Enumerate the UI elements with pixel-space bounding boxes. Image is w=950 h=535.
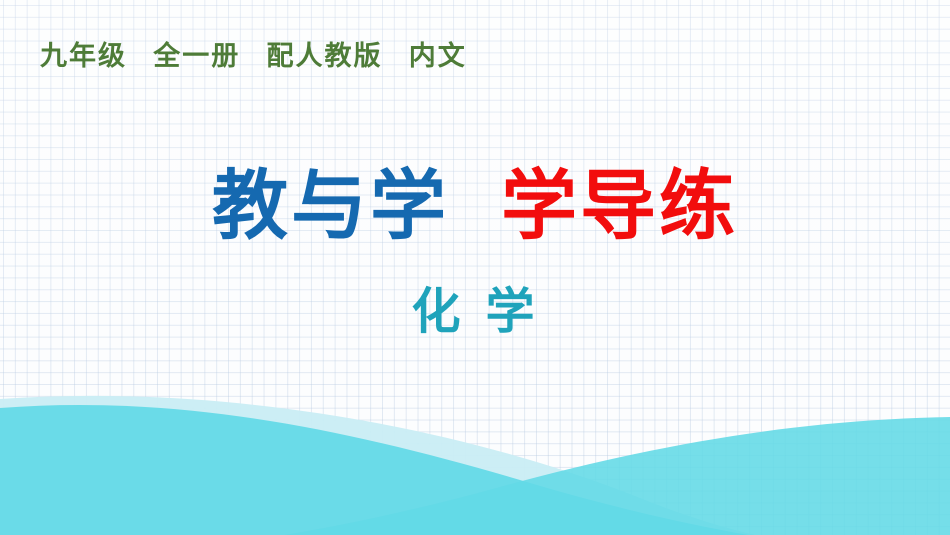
subject-title: 化 学 [0, 287, 950, 336]
subject-name: 化 学 [411, 283, 538, 340]
grade-edition-header: 九年级 全一册 配人教版 内文 [40, 43, 467, 70]
title-blue-part: 教与学 [212, 161, 449, 250]
title-red-part: 学导练 [501, 161, 738, 250]
main-title: 教与学学导练 [0, 168, 950, 244]
slide-text-content: 九年级 全一册 配人教版 内文 教与学学导练 化 学 [0, 0, 950, 535]
cover-slide: 九年级 全一册 配人教版 内文 教与学学导练 化 学 [0, 0, 950, 535]
